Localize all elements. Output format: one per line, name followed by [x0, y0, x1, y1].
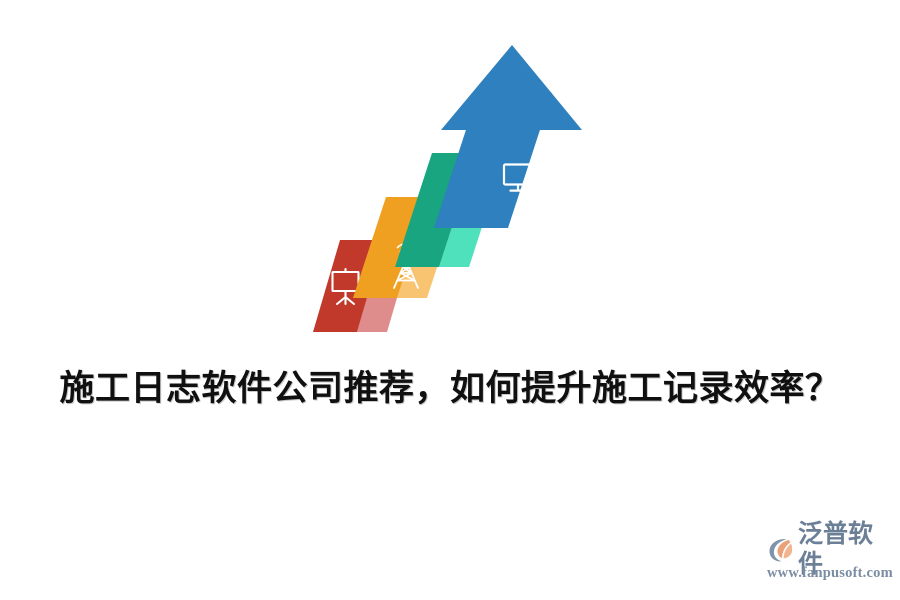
- fanpu-logo-icon: [766, 535, 796, 565]
- brand-logo-row: 泛普软件: [766, 534, 890, 566]
- arrow-step-4-monitor: [434, 45, 582, 228]
- page-canvas: 施工日志软件公司推荐，如何提升施工记录效率？ 泛普软件 www.fanpusof…: [0, 0, 900, 600]
- arrow-head: [441, 45, 582, 130]
- ascending-arrow-infographic: [310, 45, 590, 365]
- page-title: 施工日志软件公司推荐，如何提升施工记录效率？: [0, 366, 900, 412]
- brand-logo: 泛普软件 www.fanpusoft.com: [766, 534, 890, 586]
- brand-url: www.fanpusoft.com: [766, 565, 890, 582]
